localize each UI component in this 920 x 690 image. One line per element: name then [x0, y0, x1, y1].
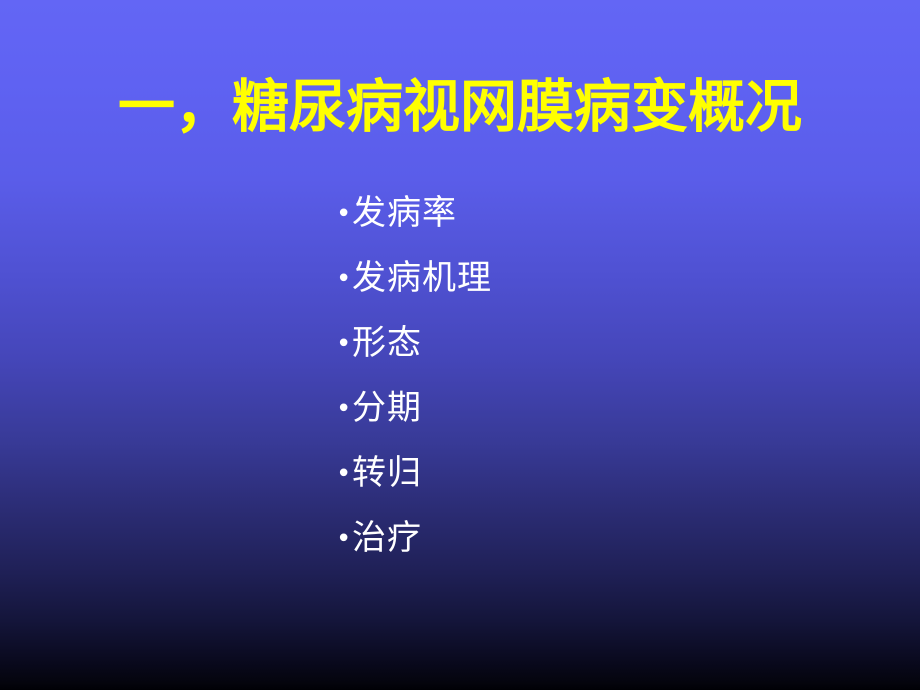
list-item: • 发病率 [336, 193, 856, 258]
bullet-point-icon: • [336, 259, 352, 299]
presentation-slide: 一，糖尿病视网膜病变概况 • 发病率 • 发病机理 • 形态 • 分期 • 转归… [0, 0, 920, 690]
bullet-point-icon: • [336, 389, 352, 429]
list-item: • 转归 [336, 453, 856, 518]
list-item: • 治疗 [336, 518, 856, 583]
bullet-item-label: 治疗 [352, 518, 422, 558]
bullet-item-label: 形态 [352, 323, 422, 363]
bullet-item-label: 分期 [352, 388, 422, 428]
bullet-item-label: 发病率 [352, 193, 457, 233]
bullet-item-label: 转归 [352, 453, 422, 493]
list-item: • 形态 [336, 323, 856, 388]
list-item: • 分期 [336, 388, 856, 453]
bullet-list: • 发病率 • 发病机理 • 形态 • 分期 • 转归 • 治疗 [336, 193, 856, 583]
bullet-point-icon: • [336, 194, 352, 234]
bullet-item-label: 发病机理 [352, 258, 492, 298]
slide-title: 一，糖尿病视网膜病变概况 [0, 78, 920, 138]
list-item: • 发病机理 [336, 258, 856, 323]
bullet-point-icon: • [336, 324, 352, 364]
slide-title-text: 一，糖尿病视网膜病变概况 [118, 78, 802, 138]
bullet-point-icon: • [336, 454, 352, 494]
bullet-point-icon: • [336, 519, 352, 559]
